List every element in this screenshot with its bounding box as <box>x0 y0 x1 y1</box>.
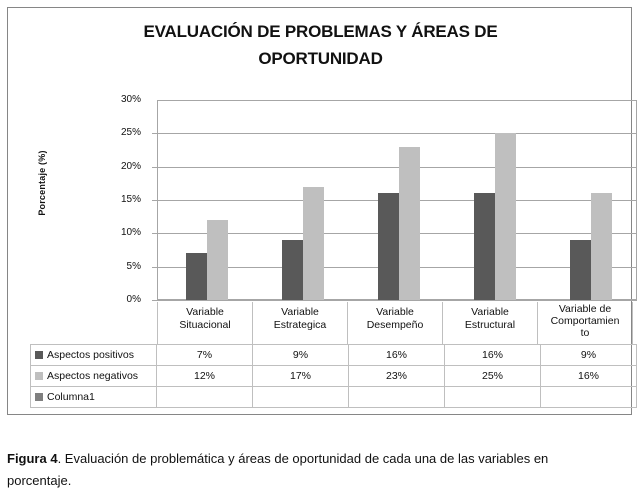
category-label-line: Variable <box>253 306 347 319</box>
table-cell-positivos-desempeno: 16% <box>349 345 445 365</box>
bar-positivos-comportamiento[interactable] <box>570 240 591 300</box>
y-tickmark-25 <box>152 133 157 134</box>
legend-item-columna1[interactable]: Columna1 <box>30 387 157 407</box>
figure-caption: Figura 4. Evaluación de problemática y á… <box>7 448 607 492</box>
category-label-line: Situacional <box>158 319 252 332</box>
category-label-line: Variable <box>158 306 252 319</box>
table-cell-columna1-estrategica <box>253 387 349 407</box>
y-tick-label-30: 30% <box>101 94 141 105</box>
category-label-line: Estrategica <box>253 319 347 332</box>
category-axis-row: Variable Situacional Variable Estrategic… <box>157 302 637 344</box>
legend-label: Aspectos positivos <box>47 349 134 361</box>
category-label-estrategica: Variable Estrategica <box>252 302 348 344</box>
figure-caption-text: . Evaluación de problemática y áreas de … <box>7 451 548 488</box>
table-cell-negativos-estrategica: 17% <box>253 366 349 386</box>
chart-title-line-1: EVALUACIÓN DE PROBLEMAS Y ÁREAS DE <box>68 18 573 45</box>
bar-negativos-situacional[interactable] <box>207 220 228 300</box>
bars-layer <box>158 100 637 300</box>
table-cell-positivos-situacional: 7% <box>157 345 253 365</box>
category-label-line: Comportamien <box>538 315 632 327</box>
legend-item-aspectos-positivos[interactable]: Aspectos positivos <box>30 345 157 365</box>
category-label-comportamiento: Variable de Comportamien to <box>537 302 633 344</box>
bar-positivos-situacional[interactable] <box>186 253 207 300</box>
table-cell-negativos-comportamiento: 16% <box>541 366 637 386</box>
bar-negativos-estrategica[interactable] <box>303 187 324 300</box>
category-label-situacional: Variable Situacional <box>157 302 253 344</box>
chart-title: EVALUACIÓN DE PROBLEMAS Y ÁREAS DE OPORT… <box>68 18 573 72</box>
table-cell-columna1-situacional <box>157 387 253 407</box>
y-tickmark-5 <box>152 267 157 268</box>
legend-label: Aspectos negativos <box>47 370 138 382</box>
y-tick-label-25: 25% <box>101 127 141 138</box>
y-tick-label-20: 20% <box>101 161 141 172</box>
table-cell-negativos-estructural: 25% <box>445 366 541 386</box>
bar-group-estructural <box>446 100 542 300</box>
y-axis-title: Porcentaje (%) <box>37 123 47 243</box>
bar-negativos-desempeno[interactable] <box>399 147 420 300</box>
table-cell-positivos-estrategica: 9% <box>253 345 349 365</box>
table-row: Aspectos negativos 12% 17% 23% 25% 16% <box>30 366 637 387</box>
category-label-line: Variable <box>348 306 442 319</box>
chart-frame: EVALUACIÓN DE PROBLEMAS Y ÁREAS DE OPORT… <box>7 7 632 415</box>
y-tickmark-0 <box>152 300 157 301</box>
table-cell-positivos-comportamiento: 9% <box>541 345 637 365</box>
table-row: Columna1 <box>30 387 637 408</box>
category-label-line: Variable <box>443 306 537 319</box>
legend-swatch-icon <box>35 393 43 401</box>
table-cell-positivos-estructural: 16% <box>445 345 541 365</box>
gridline-0 <box>157 300 637 301</box>
table-cell-columna1-desempeno <box>349 387 445 407</box>
table-row: Aspectos positivos 7% 9% 16% 16% 9% <box>30 345 637 366</box>
bar-positivos-estrategica[interactable] <box>282 240 303 300</box>
category-label-line: Desempeño <box>348 319 442 332</box>
y-tickmark-15 <box>152 200 157 201</box>
data-table: Aspectos positivos 7% 9% 16% 16% 9% Aspe… <box>30 344 637 408</box>
y-tick-label-5: 5% <box>101 261 141 272</box>
y-tick-label-10: 10% <box>101 227 141 238</box>
bar-group-desempeno <box>350 100 446 300</box>
bar-group-situacional <box>158 100 254 300</box>
legend-swatch-icon <box>35 351 43 359</box>
bar-negativos-comportamiento[interactable] <box>591 193 612 300</box>
category-label-line: Estructural <box>443 319 537 332</box>
category-label-desempeno: Variable Desempeño <box>347 302 443 344</box>
bar-positivos-desempeno[interactable] <box>378 193 399 300</box>
legend-label: Columna1 <box>47 391 95 403</box>
chart-title-line-2: OPORTUNIDAD <box>68 45 573 72</box>
plot-area: 30% 25% 20% 15% 10% 5% 0% <box>150 93 637 301</box>
category-label-line: to <box>538 327 632 339</box>
legend-swatch-icon <box>35 372 43 380</box>
table-cell-columna1-comportamiento <box>541 387 637 407</box>
category-label-estructural: Variable Estructural <box>442 302 538 344</box>
y-tickmark-20 <box>152 167 157 168</box>
y-tickmark-10 <box>152 233 157 234</box>
category-label-line: Variable de <box>538 303 632 315</box>
figure-caption-label: Figura 4 <box>7 451 58 466</box>
bar-group-estrategica <box>254 100 350 300</box>
table-cell-columna1-estructural <box>445 387 541 407</box>
y-tick-label-0: 0% <box>101 294 141 305</box>
legend-item-aspectos-negativos[interactable]: Aspectos negativos <box>30 366 157 386</box>
table-cell-negativos-desempeno: 23% <box>349 366 445 386</box>
table-cell-negativos-situacional: 12% <box>157 366 253 386</box>
bar-positivos-estructural[interactable] <box>474 193 495 300</box>
bar-negativos-estructural[interactable] <box>495 133 516 300</box>
y-tick-label-15: 15% <box>101 194 141 205</box>
bar-group-comportamiento <box>542 100 638 300</box>
